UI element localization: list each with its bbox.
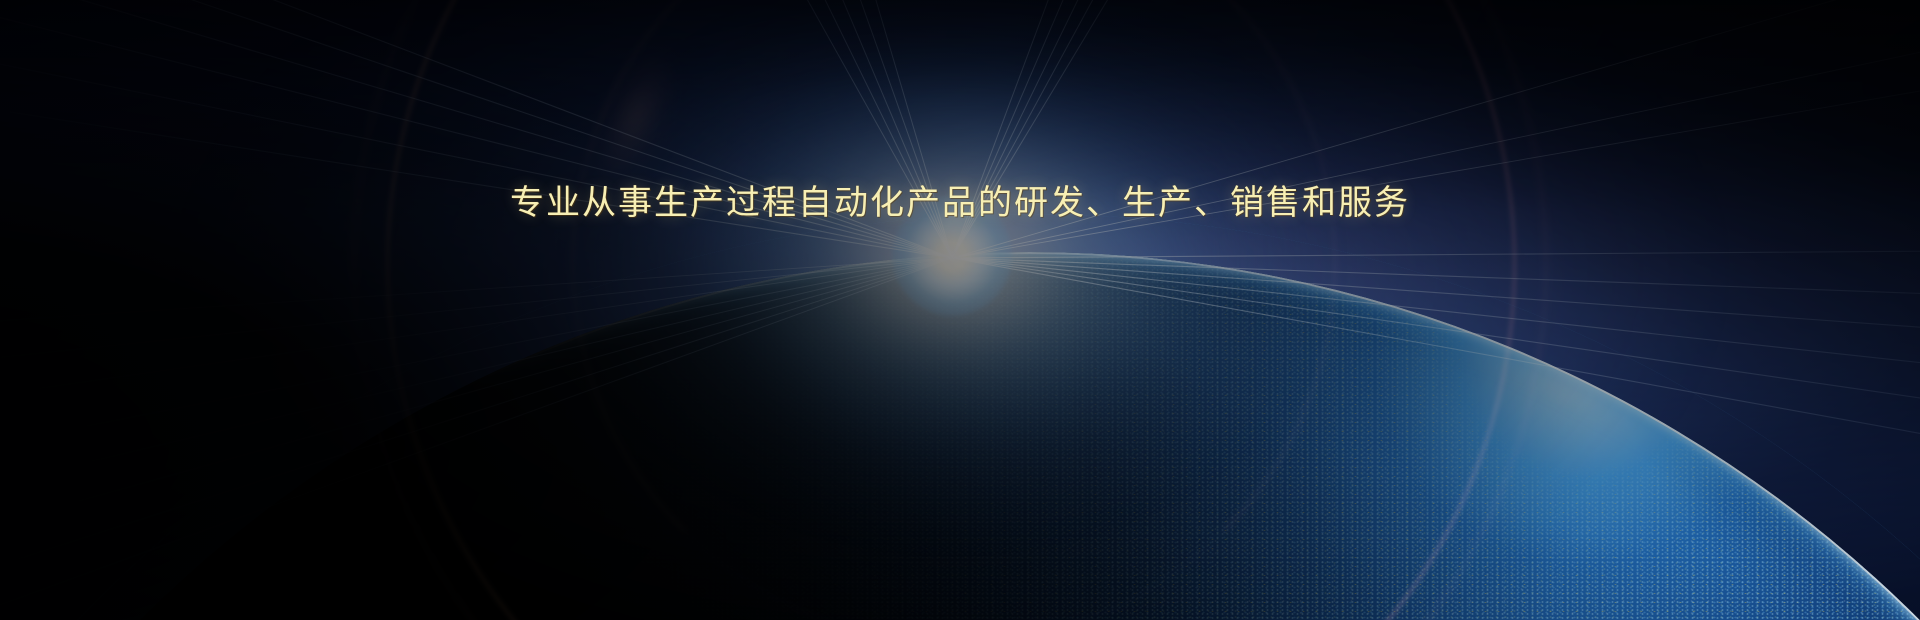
light-rays: [0, 0, 1920, 620]
banner-headline: 专业从事生产过程自动化产品的研发、生产、销售和服务: [510, 180, 1410, 226]
hero-banner: 专业从事生产过程自动化产品的研发、生产、销售和服务: [0, 0, 1920, 620]
ray-bundle-right: [952, 250, 1920, 466]
headline-container: 专业从事生产过程自动化产品的研发、生产、销售和服务: [0, 180, 1920, 226]
ray-bundle-lower-left: [0, 258, 952, 620]
